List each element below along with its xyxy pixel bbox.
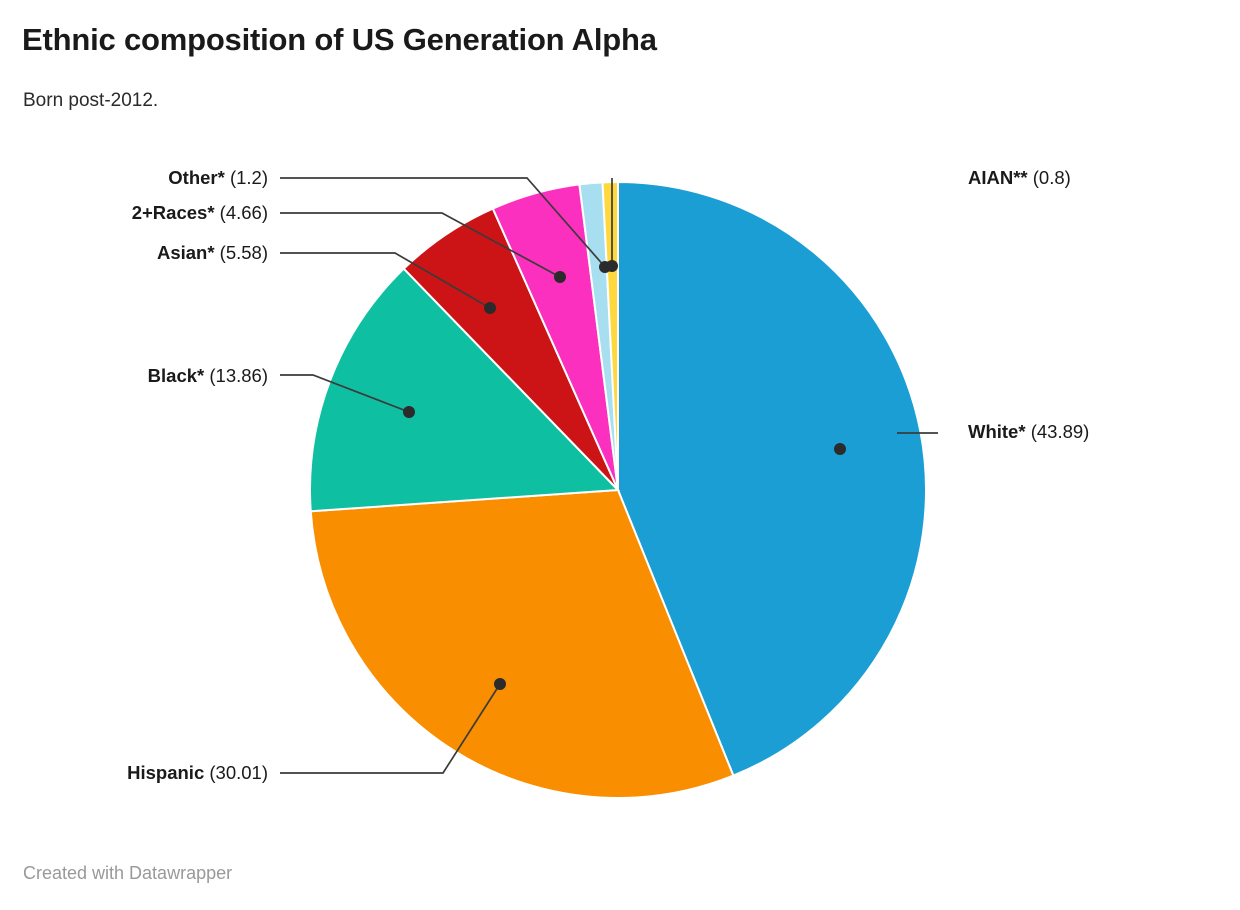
slice-label-hispanic: Hispanic (30.01) <box>127 762 268 783</box>
slice-label-name-other: Other* <box>168 167 230 188</box>
slice-label-value-asian: (5.58) <box>220 242 268 263</box>
pie-chart-svg: White* (43.89)Hispanic (30.01)Black* (13… <box>0 0 1240 910</box>
leader-dot-asian <box>484 302 496 314</box>
slice-label-name-black: Black* <box>148 365 210 386</box>
leader-dot-black <box>403 406 415 418</box>
slice-label-aian: AIAN** (0.8) <box>968 167 1071 188</box>
slice-label-value-aian: (0.8) <box>1033 167 1071 188</box>
slice-label-value-white: (43.89) <box>1031 421 1090 442</box>
slice-label-value-hispanic: (30.01) <box>209 762 268 783</box>
leader-dot-2+races <box>554 271 566 283</box>
datawrapper-credit: Created with Datawrapper <box>23 863 232 884</box>
slice-label-value-2+races: (4.66) <box>220 202 268 223</box>
slice-label-name-asian: Asian* <box>157 242 220 263</box>
slice-label-name-white: White* <box>968 421 1031 442</box>
slice-label-name-aian: AIAN** <box>968 167 1033 188</box>
slice-label-white: White* (43.89) <box>968 421 1089 442</box>
slice-label-asian: Asian* (5.58) <box>157 242 268 263</box>
leader-dot-hispanic <box>494 678 506 690</box>
leader-dot-aian <box>606 260 618 272</box>
pie-chart-figure: Ethnic composition of US Generation Alph… <box>0 0 1240 910</box>
pie-slices-group <box>310 182 926 798</box>
slice-label-other: Other* (1.2) <box>168 167 268 188</box>
slice-label-name-hispanic: Hispanic <box>127 762 209 783</box>
slice-label-black: Black* (13.86) <box>148 365 268 386</box>
leader-dot-white <box>834 443 846 455</box>
slice-label-name-2+races: 2+Races* <box>132 202 220 223</box>
slice-label-2+races: 2+Races* (4.66) <box>132 202 268 223</box>
slice-label-value-other: (1.2) <box>230 167 268 188</box>
slice-label-value-black: (13.86) <box>209 365 268 386</box>
